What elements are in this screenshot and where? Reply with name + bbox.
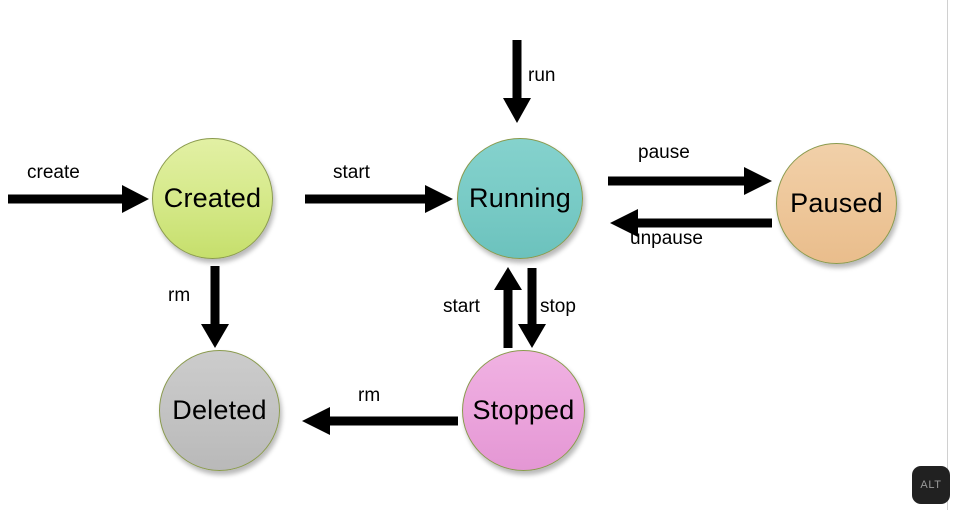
edge-label-run: run <box>528 65 555 87</box>
state-node-paused[interactable]: Paused <box>776 143 897 264</box>
alt-badge-button[interactable]: ALT <box>912 466 950 504</box>
edge-label-pause: pause <box>638 142 690 164</box>
state-node-running[interactable]: Running <box>457 138 583 259</box>
page-right-border <box>947 0 948 510</box>
state-node-deleted-label: Deleted <box>172 395 266 426</box>
state-node-paused-label: Paused <box>790 188 883 219</box>
state-node-created[interactable]: Created <box>152 138 273 259</box>
state-node-stopped[interactable]: Stopped <box>462 350 585 471</box>
edge-create <box>6 182 151 216</box>
edge-label-rm-created-deleted: rm <box>168 285 190 307</box>
diagram-canvas: create start run pause unpause <box>0 0 957 510</box>
state-node-deleted[interactable]: Deleted <box>159 350 280 471</box>
edge-start-created-running <box>303 182 455 216</box>
edge-label-unpause: unpause <box>630 228 703 250</box>
edge-label-start-stopped-running: start <box>443 296 480 318</box>
edge-pause <box>606 164 774 198</box>
edge-label-rm-stopped-deleted: rm <box>358 385 380 407</box>
edge-label-stop: stop <box>540 296 576 318</box>
alt-badge-label: ALT <box>920 479 941 491</box>
edge-rm-stopped-deleted <box>298 404 460 438</box>
state-node-running-label: Running <box>469 183 571 214</box>
edge-label-create: create <box>27 162 80 184</box>
state-node-created-label: Created <box>164 183 261 214</box>
state-node-stopped-label: Stopped <box>473 395 575 426</box>
edge-rm-created-deleted <box>198 264 232 350</box>
edge-label-start-created-running: start <box>333 162 370 184</box>
